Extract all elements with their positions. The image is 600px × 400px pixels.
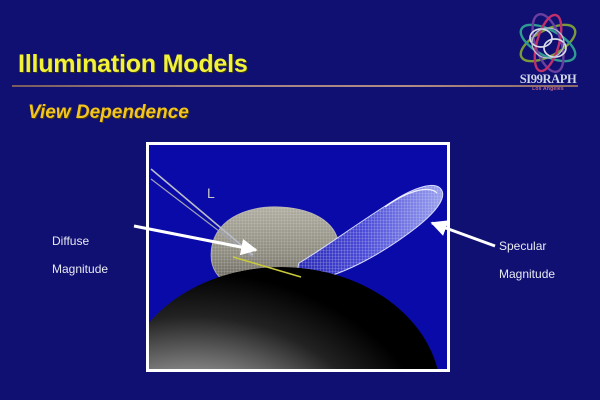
slide-canvas: Illumination Models View Dependence SI99… <box>0 0 600 400</box>
diffuse-label-line2: Magnitude <box>52 262 108 276</box>
light-vector-label: L <box>207 185 215 201</box>
title-divider <box>12 85 578 87</box>
reflectance-lobe-render <box>149 145 447 369</box>
siggraph-wordmark: SI99RAPH <box>500 72 596 87</box>
specular-magnitude-label: Specular Magnitude <box>499 225 555 295</box>
page-subtitle: View Dependence <box>28 102 189 124</box>
siggraph-logo: SI99RAPH Los Angeles <box>500 10 596 102</box>
specular-label-line2: Magnitude <box>499 267 555 281</box>
siggraph-location: Los Angeles <box>500 86 596 92</box>
diffuse-magnitude-label: Diffuse Magnitude <box>52 220 108 290</box>
specular-label-line1: Specular <box>499 239 555 253</box>
page-title: Illumination Models <box>18 50 248 79</box>
illumination-figure: L <box>146 142 450 372</box>
diffuse-label-line1: Diffuse <box>52 234 108 248</box>
siggraph-rings-icon <box>500 10 596 76</box>
